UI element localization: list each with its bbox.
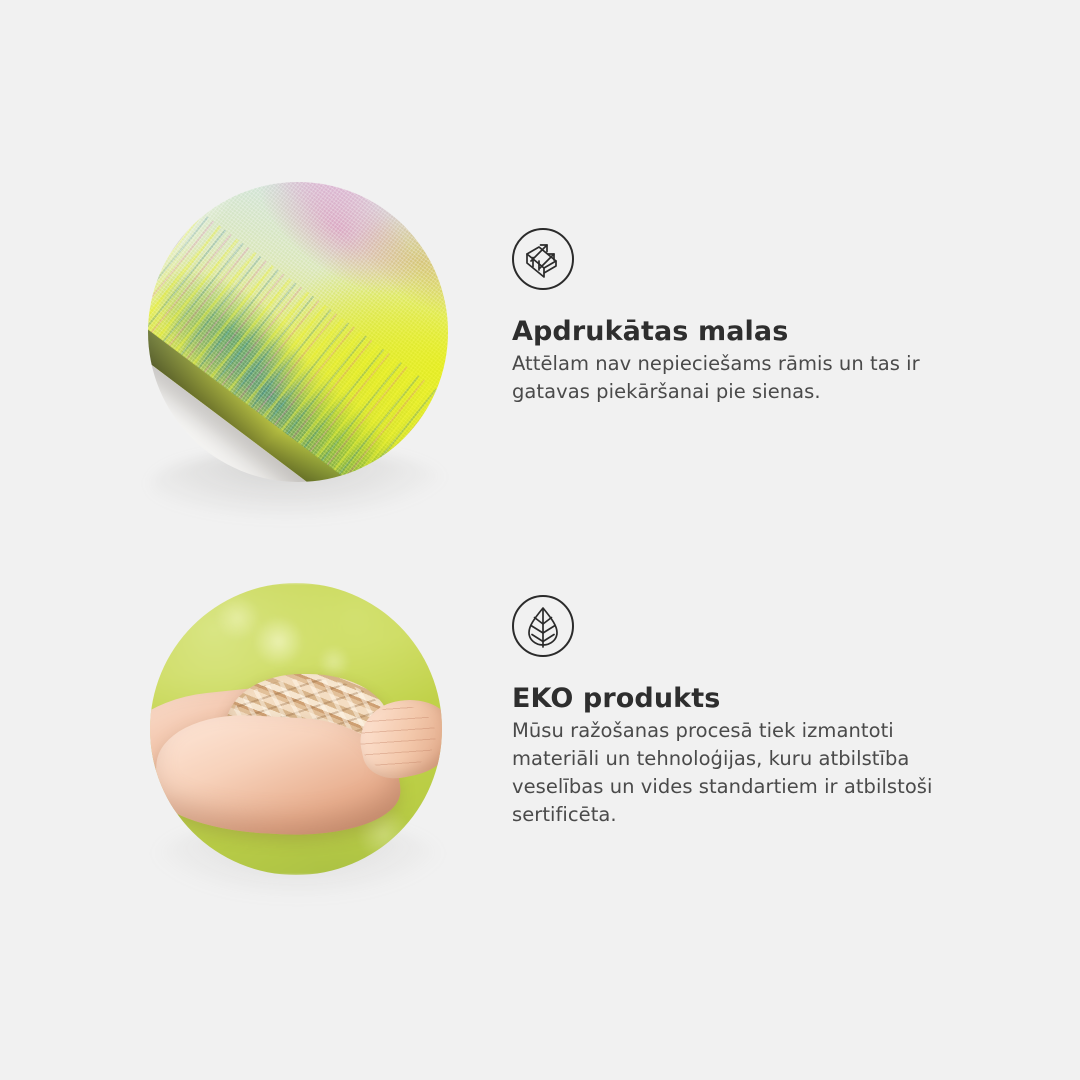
feature-printed-edges-content: Apdrukātas malas Attēlam nav nepieciešam… [512, 228, 1012, 406]
white-disc-background [148, 182, 448, 482]
feature-description: Mūsu ražošanas procesā tiek izmantoti ma… [512, 717, 1022, 829]
eco-scene [150, 583, 442, 875]
feature-printed-edges: Apdrukātas malas Attēlam nav nepieciešam… [0, 150, 1080, 530]
feature-eco-product-content: EKO produkts Mūsu ražošanas procesā tiek… [512, 595, 1022, 829]
canvas-corner-photo [148, 182, 448, 482]
feature-title: EKO produkts [512, 683, 1022, 715]
product-feature-page: Apdrukātas malas Attēlam nav nepieciešam… [0, 0, 1080, 1080]
leaf-icon [512, 595, 574, 657]
feature-title: Apdrukātas malas [512, 316, 1012, 348]
feature-description: Attēlam nav nepieciešams rāmis un tas ir… [512, 350, 1012, 406]
feature-eco-product: EKO produkts Mūsu ražošanas procesā tiek… [0, 555, 1080, 915]
canvas-block [148, 182, 448, 482]
printed-edges-icon [512, 228, 574, 290]
wood-chips-hands-photo [150, 583, 442, 875]
